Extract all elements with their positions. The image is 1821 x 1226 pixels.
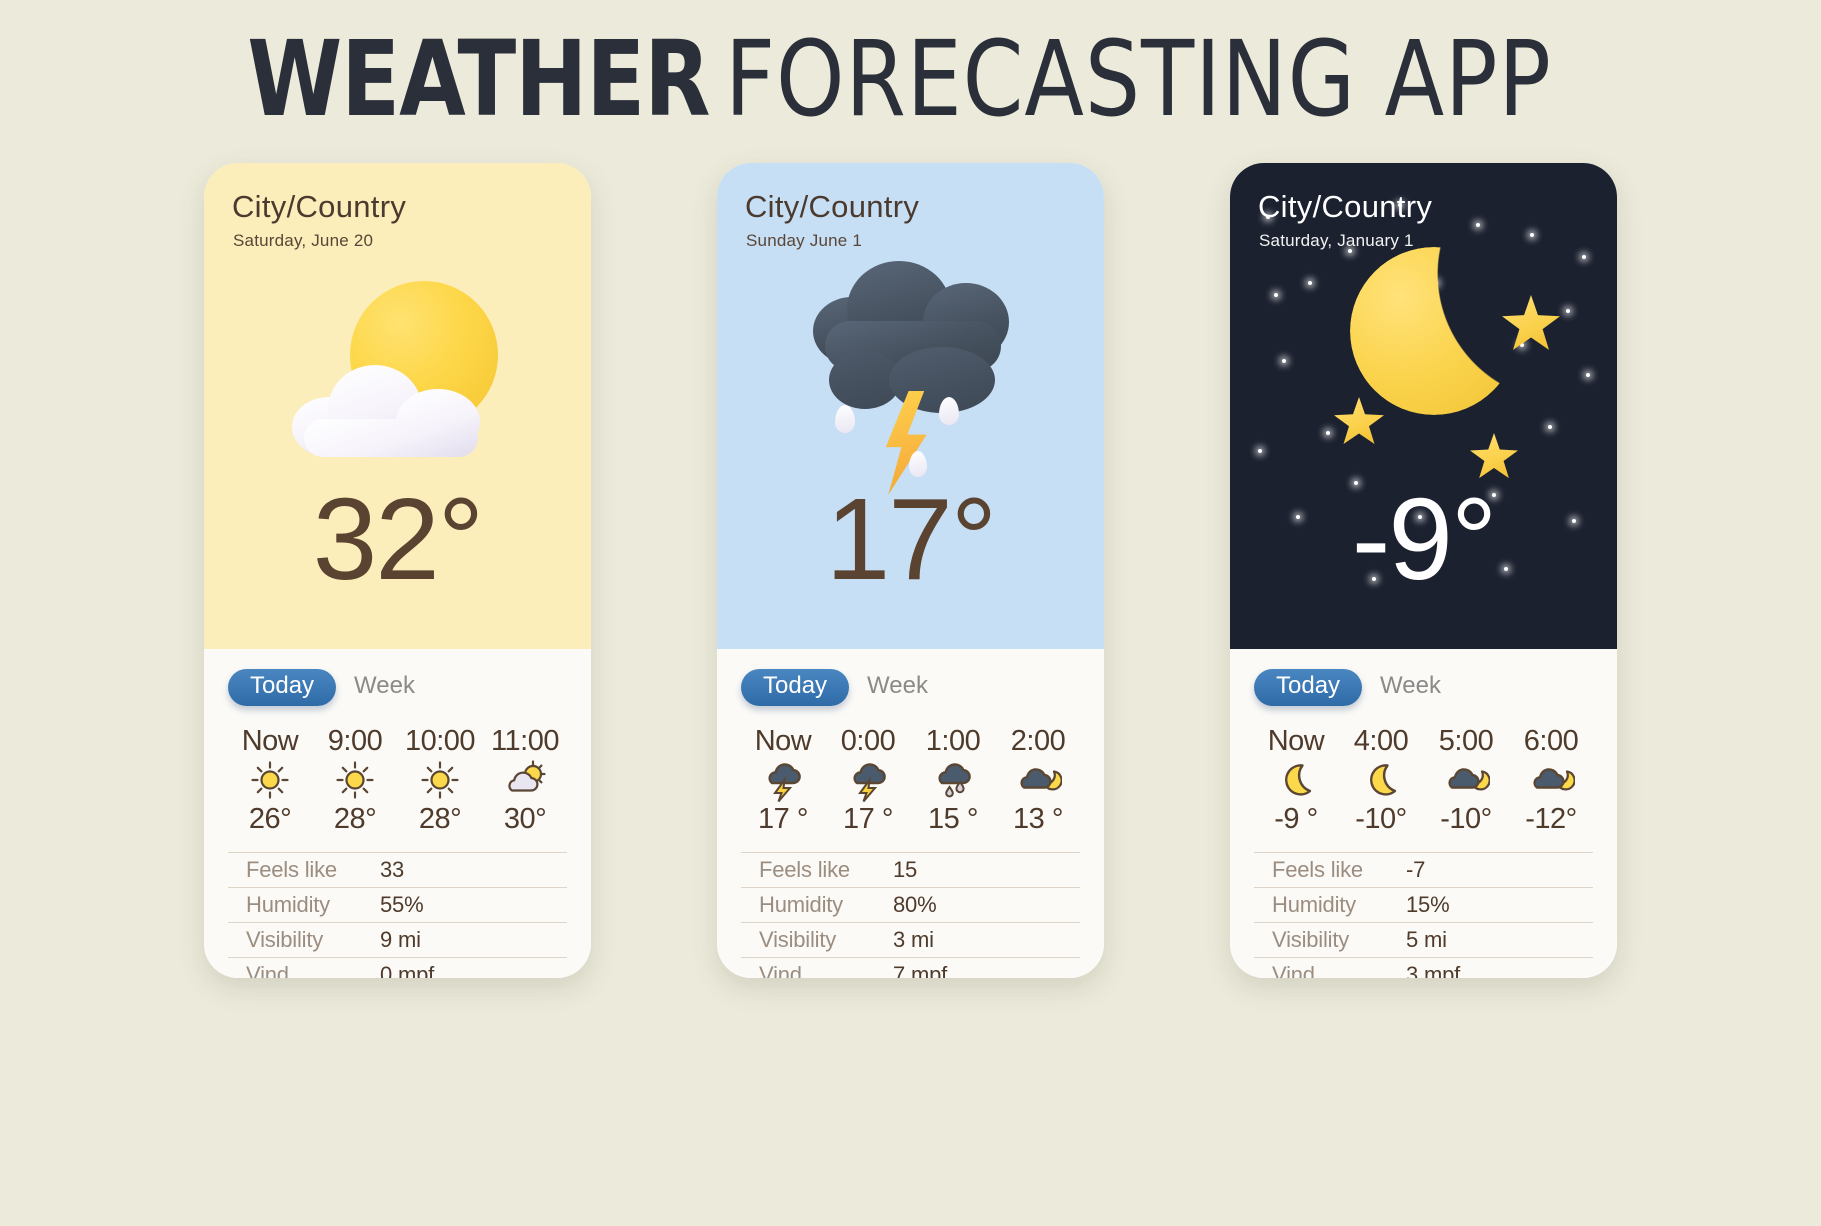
hour-weather-icon <box>419 758 461 802</box>
card-hero: City/Country Saturday, January 1 -9° <box>1230 163 1617 649</box>
detail-value: 15% <box>1406 892 1449 918</box>
hour-temperature: -12° <box>1525 804 1577 836</box>
tab-week[interactable]: Week <box>348 667 421 708</box>
hour-label: 11:00 <box>491 726 559 756</box>
star-twinkle <box>1274 293 1278 297</box>
hour-temperature: 17 ° <box>843 804 893 836</box>
detail-label: Vind <box>741 962 893 978</box>
detail-row: Feels like -7 <box>1254 852 1593 887</box>
card-panel: Today Week Now -9 ° 4:00 -10° 5:00 <box>1230 649 1617 978</box>
forecast-range-toggle: Today Week <box>228 667 567 708</box>
detail-value: 5 mi <box>1406 927 1447 953</box>
detail-row: Humidity 15% <box>1254 887 1593 922</box>
crescent-moon-shape <box>1350 247 1518 415</box>
detail-label: Visibility <box>741 927 893 953</box>
hour-column[interactable]: Now 26° <box>228 726 312 836</box>
detail-value: 0 mpf <box>380 962 434 978</box>
hour-temperature: 17 ° <box>758 804 808 836</box>
hour-temperature: 28° <box>334 804 376 836</box>
star-twinkle <box>1258 449 1262 453</box>
detail-label: Feels like <box>1254 857 1406 883</box>
detail-value: -7 <box>1406 857 1425 883</box>
date-label: Saturday, January 1 <box>1259 231 1414 251</box>
hour-label: 10:00 <box>405 726 475 756</box>
detail-value: 3 mpf <box>1406 962 1460 978</box>
rain-cloud-icon <box>930 758 976 802</box>
hour-column[interactable]: 4:00 -10° <box>1339 726 1423 836</box>
sun-icon <box>249 759 291 801</box>
card-hero: City/Country Saturday, June 20 32° <box>204 163 591 649</box>
detail-value: 9 mi <box>380 927 421 953</box>
hour-label: 9:00 <box>328 726 382 756</box>
hour-label: Now <box>755 726 812 756</box>
card-hero: City/Country Sunday June 1 17° <box>717 163 1104 649</box>
star-twinkle <box>1282 359 1286 363</box>
cloud-shape <box>290 359 486 451</box>
page-title-light: FORECASTING APP <box>725 18 1552 140</box>
star-twinkle <box>1440 395 1444 399</box>
storm-cloud-shape <box>813 255 1013 485</box>
hour-temperature: 26° <box>249 804 291 836</box>
detail-value: 3 mi <box>893 927 934 953</box>
detail-row: Feels like 15 <box>741 852 1080 887</box>
star-shape <box>1334 397 1384 445</box>
hour-temperature: -9 ° <box>1274 804 1317 836</box>
current-temperature: -9° <box>1230 481 1617 597</box>
weather-card-storm-card: City/Country Sunday June 1 17° Today Wee… <box>717 163 1104 978</box>
crescent-moon-icon <box>1360 759 1402 801</box>
detail-value: 15 <box>893 857 917 883</box>
star-twinkle <box>1586 373 1590 377</box>
hour-temperature: 13 ° <box>1013 804 1063 836</box>
conditions-detail-table: Feels like -7 Humidity 15% Visibility 5 … <box>1254 852 1593 978</box>
detail-label: Visibility <box>1254 927 1406 953</box>
hour-label: 0:00 <box>841 726 895 756</box>
current-temperature: 17° <box>717 481 1104 597</box>
hour-weather-icon <box>930 758 976 802</box>
city-country-label: City/Country <box>232 189 406 225</box>
sun-shape <box>350 281 498 429</box>
city-country-label: City/Country <box>745 189 919 225</box>
date-label: Sunday June 1 <box>746 231 862 251</box>
detail-row: Feels like 33 <box>228 852 567 887</box>
hour-weather-icon <box>334 758 376 802</box>
hour-weather-icon <box>1360 758 1402 802</box>
raindrop-shape <box>835 405 855 433</box>
city-country-label: City/Country <box>1258 189 1432 225</box>
cloud-with-moon-icon <box>1442 759 1490 801</box>
sun-icon <box>419 759 461 801</box>
hour-weather-icon <box>1442 758 1490 802</box>
app-mockup-page: WEATHERFORECASTING APP City/Country Satu… <box>0 0 1821 1226</box>
star-shape <box>1470 433 1518 479</box>
star-twinkle <box>1434 281 1438 285</box>
detail-label: Vind <box>228 962 380 978</box>
hour-temperature: -10° <box>1355 804 1407 836</box>
star-twinkle <box>1566 309 1570 313</box>
date-label: Saturday, June 20 <box>233 231 373 251</box>
tab-today[interactable]: Today <box>741 669 849 706</box>
thunderstorm-icon <box>845 758 891 802</box>
hour-temperature: -10° <box>1440 804 1492 836</box>
detail-value: 33 <box>380 857 404 883</box>
conditions-detail-table: Feels like 33 Humidity 55% Visibility 9 … <box>228 852 567 978</box>
detail-value: 55% <box>380 892 423 918</box>
hour-column[interactable]: 11:00 30° <box>483 726 567 836</box>
hour-column[interactable]: 10:00 28° <box>398 726 482 836</box>
detail-row: Humidity 80% <box>741 887 1080 922</box>
raindrop-shape <box>939 397 959 425</box>
detail-row: Visibility 9 mi <box>228 922 567 957</box>
conditions-detail-table: Feels like 15 Humidity 80% Visibility 3 … <box>741 852 1080 978</box>
hour-label: 2:00 <box>1011 726 1065 756</box>
star-shape <box>1502 295 1560 351</box>
forecast-range-toggle: Today Week <box>741 667 1080 708</box>
hour-weather-icon <box>1275 758 1317 802</box>
hour-weather-icon <box>1014 758 1062 802</box>
hour-label: 6:00 <box>1524 726 1578 756</box>
hour-weather-icon <box>502 758 548 802</box>
hour-label: Now <box>242 726 299 756</box>
hour-label: Now <box>1268 726 1325 756</box>
detail-value: 80% <box>893 892 936 918</box>
tab-week[interactable]: Week <box>861 667 934 708</box>
sun-behind-cloud-icon <box>502 759 548 801</box>
hour-weather-icon <box>760 758 806 802</box>
weather-card-sunny-card: City/Country Saturday, June 20 32° Today… <box>204 163 591 978</box>
hourly-forecast-row: Now 17 ° 0:00 17 ° 1:00 15 ° <box>741 726 1080 836</box>
cloud-with-moon-icon <box>1014 759 1062 801</box>
detail-label: Feels like <box>741 857 893 883</box>
hour-column[interactable]: 6:00 -12° <box>1509 726 1593 836</box>
crescent-moon-icon <box>1275 759 1317 801</box>
star-twinkle <box>1378 323 1382 327</box>
hour-temperature: 28° <box>419 804 461 836</box>
cloud-with-moon-icon <box>1527 759 1575 801</box>
star-twinkle <box>1326 431 1330 435</box>
detail-label: Visibility <box>228 927 380 953</box>
hourly-forecast-row: Now 26° 9:00 28° 10:00 <box>228 726 567 836</box>
tab-week[interactable]: Week <box>1374 667 1447 708</box>
hour-column[interactable]: 2:00 13 ° <box>996 726 1080 836</box>
detail-row: Vind 0 mpf <box>228 957 567 978</box>
hour-column[interactable]: 1:00 15 ° <box>911 726 995 836</box>
hour-label: 4:00 <box>1354 726 1408 756</box>
detail-value: 7 mpf <box>893 962 947 978</box>
star-twinkle <box>1582 255 1586 259</box>
detail-label: Feels like <box>228 857 380 883</box>
hour-column[interactable]: Now -9 ° <box>1254 726 1338 836</box>
hour-weather-icon <box>845 758 891 802</box>
hour-temperature: 30° <box>504 804 546 836</box>
detail-label: Vind <box>1254 962 1406 978</box>
detail-label: Humidity <box>1254 892 1406 918</box>
forecast-range-toggle: Today Week <box>1254 667 1593 708</box>
star-twinkle <box>1548 425 1552 429</box>
hour-column[interactable]: 5:00 -10° <box>1424 726 1508 836</box>
page-title: WEATHERFORECASTING APP <box>0 18 1821 140</box>
hour-column[interactable]: 9:00 28° <box>313 726 397 836</box>
star-twinkle <box>1308 281 1312 285</box>
star-twinkle <box>1520 343 1524 347</box>
detail-row: Visibility 3 mi <box>741 922 1080 957</box>
detail-label: Humidity <box>741 892 893 918</box>
detail-row: Humidity 55% <box>228 887 567 922</box>
current-temperature: 32° <box>204 481 591 597</box>
hour-label: 1:00 <box>926 726 980 756</box>
sun-icon <box>334 759 376 801</box>
hour-temperature: 15 ° <box>928 804 978 836</box>
tab-today[interactable]: Today <box>1254 669 1362 706</box>
hour-weather-icon <box>249 758 291 802</box>
tab-today[interactable]: Today <box>228 669 336 706</box>
hour-column[interactable]: Now 17 ° <box>741 726 825 836</box>
detail-row: Vind 7 mpf <box>741 957 1080 978</box>
weather-card-list: City/Country Saturday, June 20 32° Today… <box>0 163 1821 978</box>
page-title-strong: WEATHER <box>247 18 709 140</box>
hour-column[interactable]: 0:00 17 ° <box>826 726 910 836</box>
hourly-forecast-row: Now -9 ° 4:00 -10° 5:00 -10° 6:00 <box>1254 726 1593 836</box>
detail-row: Visibility 5 mi <box>1254 922 1593 957</box>
detail-label: Humidity <box>228 892 380 918</box>
card-panel: Today Week Now 26° 9:00 28° <box>204 649 591 978</box>
detail-row: Vind 3 mpf <box>1254 957 1593 978</box>
weather-card-night-card: City/Country Saturday, January 1 -9° Tod… <box>1230 163 1617 978</box>
star-twinkle <box>1530 233 1534 237</box>
card-panel: Today Week Now 17 ° 0:00 17 ° 1:00 <box>717 649 1104 978</box>
thunderstorm-icon <box>760 758 806 802</box>
hour-label: 5:00 <box>1439 726 1493 756</box>
star-twinkle <box>1476 223 1480 227</box>
hour-weather-icon <box>1527 758 1575 802</box>
